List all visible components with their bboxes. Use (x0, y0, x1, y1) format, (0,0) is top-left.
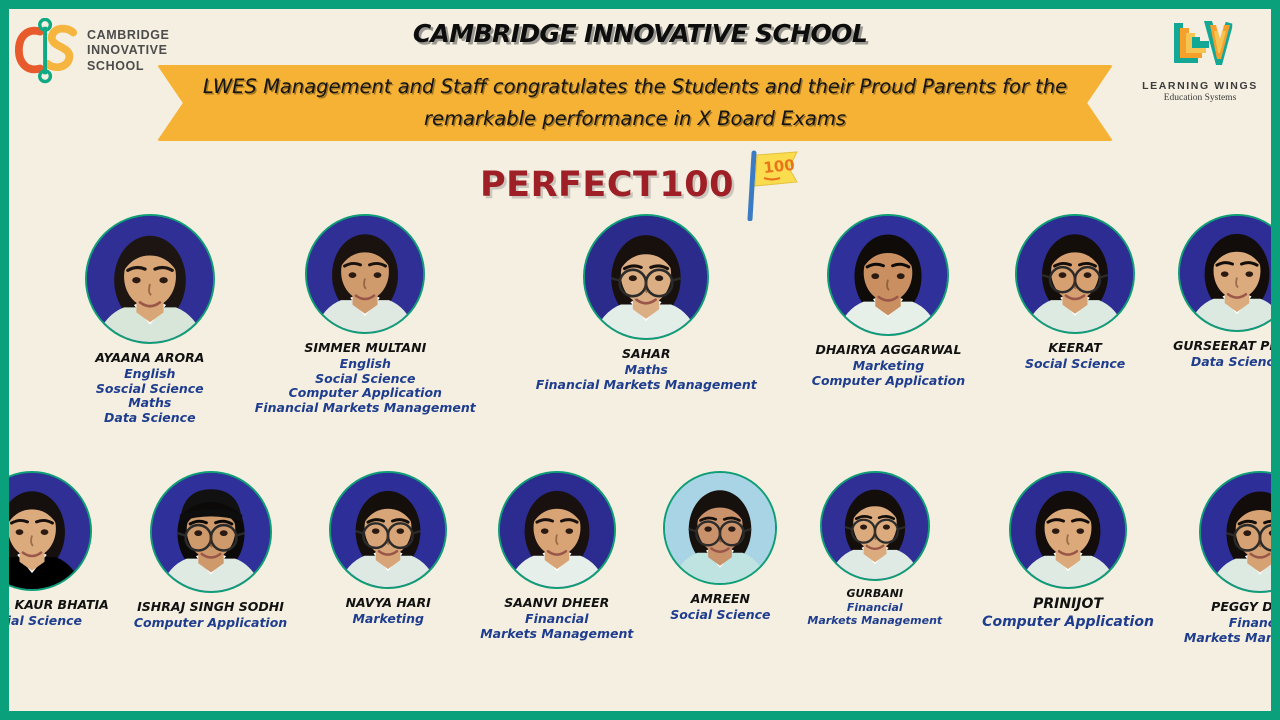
student-subjects: FinancialMarkets Management (807, 602, 942, 628)
student-subject-item: Social Science (1025, 357, 1125, 372)
student-photo (305, 214, 425, 334)
student-subject-item: Marketing (352, 612, 424, 627)
student-photo (820, 471, 930, 581)
student-name: PEGGY DHEER (1211, 600, 1271, 615)
perfect-100-heading: PERFECT 100 100 (9, 149, 1271, 221)
student-subject-item: Financial Markets Management (255, 401, 476, 416)
student-photo (583, 214, 709, 340)
student-photo (1178, 214, 1271, 332)
student-name: PRINIJOT (1033, 596, 1103, 613)
student-name: NAVYA HARI (346, 596, 431, 611)
student-name: SAANVI DHEER (504, 596, 609, 611)
student-row-1: AYAANA ARORAEnglishSoscial ScienceMathsD… (9, 214, 1271, 426)
poster-root: CAMBRIDGE INNOVATIVE SCHOOL CAMBRIDGE IN… (0, 0, 1280, 720)
student-subject-item: Financial (480, 612, 633, 627)
student-subjects: FinancialMarkets Management (480, 612, 633, 642)
student-card: PEGGY DHEERFinancialMarkets Management (1184, 471, 1271, 645)
learning-wings-logo: LEARNING WINGS Education Systems (1139, 13, 1261, 109)
student-name: SAHAR (622, 347, 670, 362)
student-subject-item: Markets Management (480, 627, 633, 642)
student-subject-item: Computer Application (982, 614, 1154, 631)
student-photo (9, 471, 92, 591)
student-card: SAANVI DHEERFinancialMarkets Management (480, 471, 633, 641)
student-subject-item: English (255, 357, 476, 372)
student-subject-item: Marketing (812, 359, 965, 374)
student-photo (1199, 471, 1271, 593)
student-card: SAHARMathsFinancial Markets Management (536, 214, 757, 392)
student-name: AMREEN (691, 592, 750, 607)
student-subjects: EnglishSocial ScienceComputer Applicatio… (255, 357, 476, 416)
student-name: GURBANI (846, 588, 903, 601)
student-photo (85, 214, 215, 344)
student-subject-item: Financial Markets Management (536, 378, 757, 393)
poster-canvas: CAMBRIDGE INNOVATIVE SCHOOL CAMBRIDGE IN… (9, 9, 1271, 711)
student-name: AYAANA ARORA (95, 351, 204, 366)
student-subjects: Social Science (9, 614, 82, 629)
student-subjects: MathsFinancial Markets Management (536, 363, 757, 393)
student-card: GURBANIFinancialMarkets Management (807, 471, 942, 628)
student-subject-item: Data Science (96, 411, 204, 426)
student-subject-item: Computer Application (255, 386, 476, 401)
student-subjects: Computer Application (982, 614, 1154, 631)
flag-100-icon: 100 (740, 149, 800, 221)
student-card: GURSEERAT PELIAData Science (1173, 214, 1271, 370)
student-photo (827, 214, 949, 336)
student-subject-item: Computer Application (812, 374, 965, 389)
student-card: ISHRAJ SINGH SODHIComputer Application (134, 471, 287, 631)
perfect-label: PERFECT (480, 165, 657, 205)
learning-wings-name: LEARNING WINGS (1142, 80, 1258, 92)
student-subjects: MarketingComputer Application (812, 359, 965, 389)
student-card: DHAIRYA AGGARWALMarketingComputer Applic… (812, 214, 965, 388)
student-name: SAVERA KAUR BHATIA (9, 598, 109, 613)
page-title: CAMBRIDGE INNOVATIVE SCHOOL (9, 19, 1271, 48)
student-subjects: Social Science (670, 608, 770, 623)
learning-wings-tagline: Education Systems (1164, 93, 1237, 103)
student-card: PRINIJOTComputer Application (982, 471, 1154, 630)
student-photo (150, 471, 272, 593)
student-photo (329, 471, 447, 589)
student-name: KEERAT (1048, 341, 1101, 356)
student-card: AYAANA ARORAEnglishSoscial ScienceMathsD… (85, 214, 215, 426)
svg-text:100: 100 (763, 156, 796, 177)
congratulations-ribbon: LWES Management and Staff congratulates … (157, 65, 1113, 141)
student-card: SAVERA KAUR BHATIASocial Science (9, 471, 109, 629)
student-subjects: Computer Application (134, 616, 287, 631)
student-photo (1015, 214, 1135, 334)
student-subjects: Social Science (1025, 357, 1125, 372)
student-subject-item: Maths (96, 396, 204, 411)
student-subject-item: Markets Management (807, 615, 942, 628)
student-subjects: EnglishSoscial ScienceMathsData Science (96, 367, 204, 426)
student-card: NAVYA HARIMarketing (329, 471, 447, 627)
student-subject-item: Social Science (255, 372, 476, 387)
student-name: GURSEERAT PELIA (1173, 339, 1271, 354)
student-name: SIMMER MULTANI (304, 341, 426, 356)
student-subject-item: Social Science (9, 614, 82, 629)
student-subjects: Marketing (352, 612, 424, 627)
student-photo (663, 471, 777, 585)
student-subject-item: Social Science (670, 608, 770, 623)
student-card: KEERATSocial Science (1015, 214, 1135, 372)
student-subject-item: Data Science (1191, 355, 1271, 370)
student-card: SIMMER MULTANIEnglishSocial ScienceCompu… (255, 214, 476, 416)
student-subject-item: Soscial Science (96, 382, 204, 397)
student-subject-item: Computer Application (134, 616, 287, 631)
student-row-2: SAVERA KAUR BHATIASocial Science ISHRAJ … (9, 471, 1271, 645)
student-subjects: Data Science (1191, 355, 1271, 370)
ribbon-text: LWES Management and Staff congratulates … (157, 65, 1113, 141)
student-name: DHAIRYA AGGARWAL (815, 343, 961, 358)
student-card: AMREENSocial Science (663, 471, 777, 623)
student-subject-item: English (96, 367, 204, 382)
learning-wings-shield-icon (1164, 13, 1236, 77)
student-subject-item: Maths (536, 363, 757, 378)
student-subject-item: Markets Management (1184, 631, 1271, 646)
student-subject-item: Financial (1184, 616, 1271, 631)
student-subjects: FinancialMarkets Management (1184, 616, 1271, 646)
student-photo (1009, 471, 1127, 589)
student-name: ISHRAJ SINGH SODHI (137, 600, 284, 615)
perfect-number: 100 (659, 165, 734, 205)
student-photo (498, 471, 616, 589)
student-subject-item: Financial (807, 602, 942, 615)
